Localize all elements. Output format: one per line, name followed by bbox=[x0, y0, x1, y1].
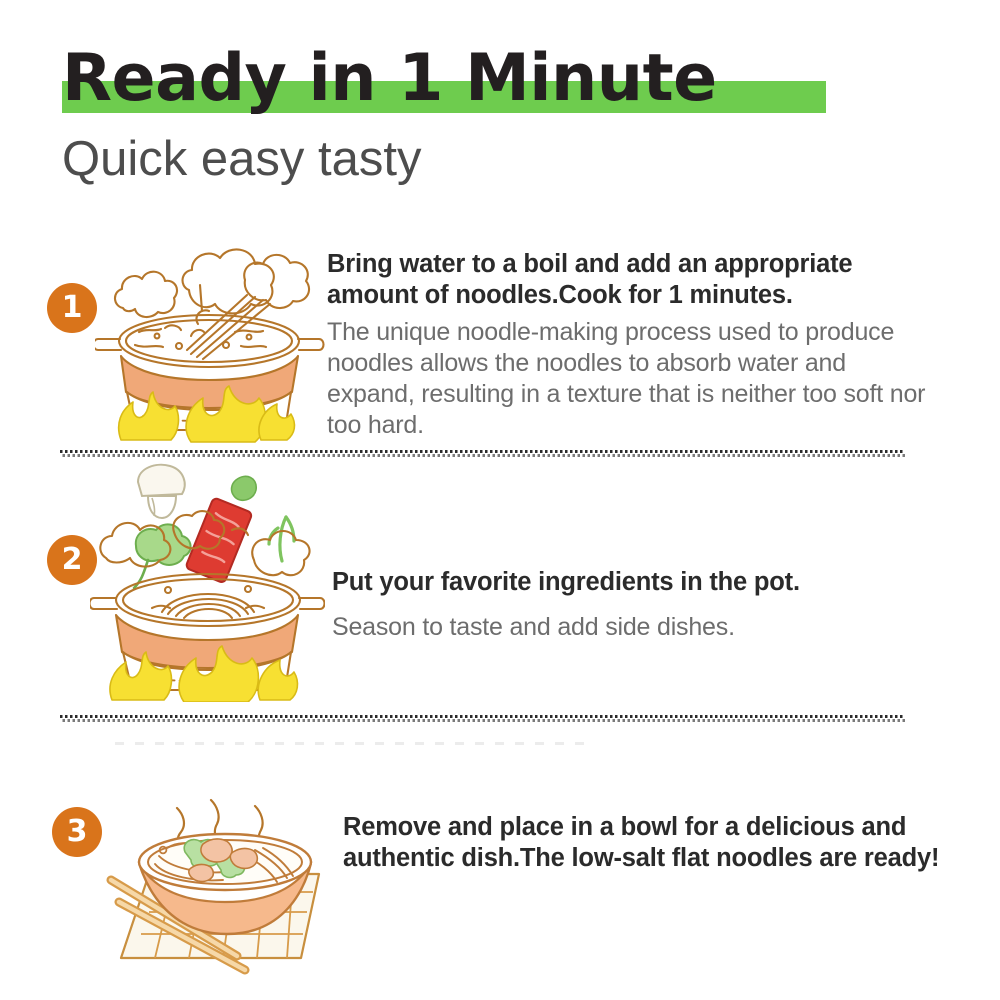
step-1-lead: Bring water to a boil and add an appropr… bbox=[327, 249, 932, 311]
noodle-bowl-icon bbox=[105, 752, 355, 977]
step-2-text: Put your favorite ingredients in the pot… bbox=[332, 567, 932, 643]
step-3-lead: Remove and place in a bowl for a delicio… bbox=[343, 812, 951, 874]
step-2-body: Season to taste and add side dishes. bbox=[332, 612, 932, 643]
mushroom-icon bbox=[138, 465, 185, 518]
infographic-page: Ready in 1 Minute Quick easy tasty 1 bbox=[0, 0, 1000, 1000]
step-3-text: Remove and place in a bowl for a delicio… bbox=[343, 812, 951, 874]
pot-with-ingredients-icon bbox=[90, 462, 325, 702]
faint-dashed-line bbox=[115, 742, 585, 745]
divider-1 bbox=[60, 450, 905, 457]
step-3: 3 bbox=[0, 0, 1000, 230]
step-3-illustration bbox=[105, 752, 355, 977]
step-1-illustration bbox=[95, 240, 325, 445]
step-1-body: The unique noodle-making process used to… bbox=[327, 317, 932, 441]
green-veg-icon bbox=[232, 476, 257, 500]
divider-2 bbox=[60, 715, 905, 722]
green-onion-icon bbox=[269, 517, 294, 561]
step-2-illustration bbox=[90, 462, 325, 702]
pot-boiling-noodles-icon bbox=[95, 240, 325, 445]
pot-band bbox=[121, 356, 298, 408]
step-1-badge: 1 bbox=[47, 283, 97, 333]
step-1-text: Bring water to a boil and add an appropr… bbox=[327, 249, 932, 441]
step-2-lead: Put your favorite ingredients in the pot… bbox=[332, 567, 932, 598]
broccoli-icon bbox=[134, 524, 191, 588]
step-3-badge: 3 bbox=[52, 807, 102, 857]
